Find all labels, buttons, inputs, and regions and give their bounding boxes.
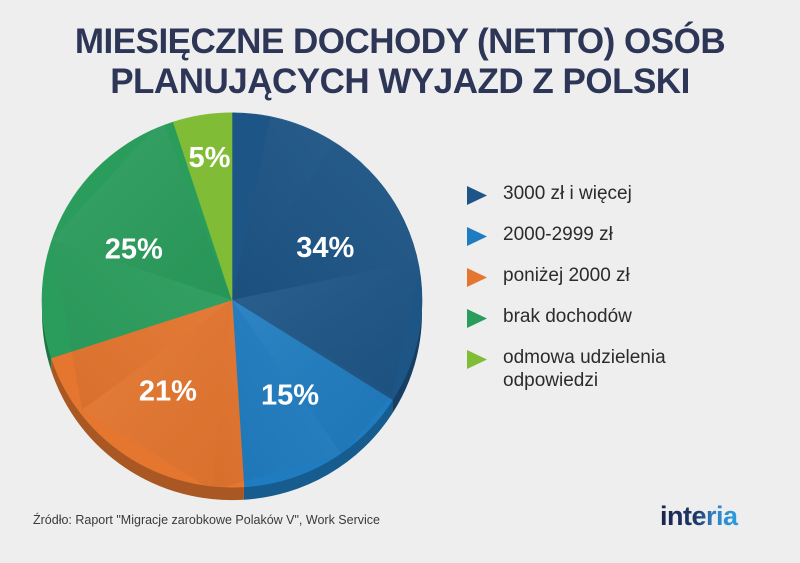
legend-label: brak dochodów xyxy=(503,305,632,328)
triangle-marker-icon xyxy=(466,349,488,370)
legend-label: 3000 zł i więcej xyxy=(503,182,632,205)
legend-item-refused[interactable]: odmowa udzielenia odpowiedzi xyxy=(466,346,766,392)
pie-chart-svg: 34%15%21%25%5% xyxy=(24,104,444,504)
legend-label: odmowa udzielenia odpowiedzi xyxy=(503,346,666,392)
pie-slice-value-label: 21% xyxy=(139,376,197,408)
pie-slice-value-label: 5% xyxy=(188,142,230,174)
triangle-marker-icon xyxy=(466,226,488,247)
legend-item-3000-plus[interactable]: 3000 zł i więcej xyxy=(466,182,766,206)
chart-legend: 3000 zł i więcej 2000-2999 zł poniżej 20… xyxy=(466,182,766,409)
pie-chart: 34%15%21%25%5% xyxy=(24,104,444,504)
triangle-marker-icon xyxy=(466,185,488,206)
legend-item-2000-2999[interactable]: 2000-2999 zł xyxy=(466,223,766,247)
triangle-marker-icon xyxy=(466,308,488,329)
legend-item-below-2000[interactable]: poniżej 2000 zł xyxy=(466,264,766,288)
page-title: MIESIĘCZNE DOCHODY (NETTO) OSÓB PLANUJĄC… xyxy=(0,22,800,102)
legend-item-no-income[interactable]: brak dochodów xyxy=(466,305,766,329)
pie-slice-value-label: 25% xyxy=(105,233,163,265)
legend-label: poniżej 2000 zł xyxy=(503,264,630,287)
interia-logo-text: interia xyxy=(660,501,739,531)
pie-slice-value-label: 15% xyxy=(261,379,319,411)
legend-label: 2000-2999 zł xyxy=(503,223,613,246)
interia-logo: interia xyxy=(658,498,778,534)
source-note: Źródło: Raport "Migracje zarobkowe Polak… xyxy=(33,513,380,527)
pie-slice-value-label: 34% xyxy=(296,232,354,264)
triangle-marker-icon xyxy=(466,267,488,288)
